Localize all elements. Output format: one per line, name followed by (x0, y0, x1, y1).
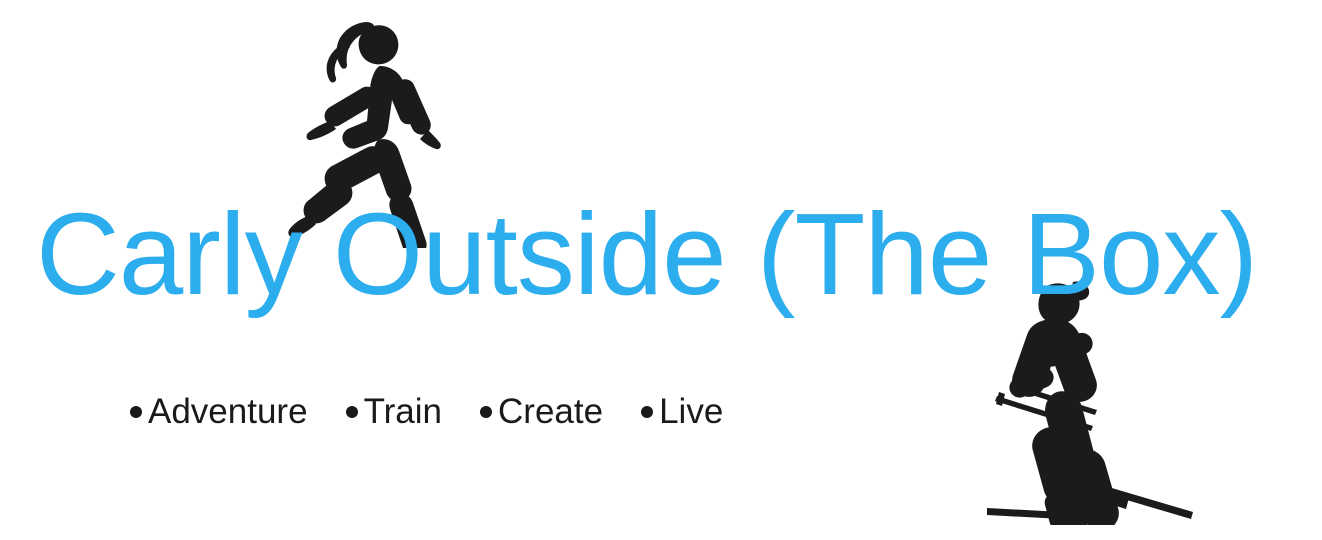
tagline-item-adventure: Adventure (130, 392, 308, 432)
site-header-banner: Carly Outside (The Box) Adventure Train … (0, 0, 1322, 540)
tagline-label: Train (364, 392, 442, 432)
tagline-list: Adventure Train Create Live (130, 392, 723, 432)
bullet-dot-icon (480, 406, 492, 418)
bullet-dot-icon (641, 406, 653, 418)
bullet-dot-icon (346, 406, 358, 418)
tagline-label: Create (498, 392, 603, 432)
bullet-dot-icon (130, 406, 142, 418)
tagline-label: Live (659, 392, 723, 432)
page-title: Carly Outside (The Box) (36, 196, 1296, 312)
tagline-item-live: Live (641, 392, 723, 432)
tagline-label: Adventure (148, 392, 308, 432)
tagline-item-train: Train (346, 392, 442, 432)
tagline-item-create: Create (480, 392, 603, 432)
